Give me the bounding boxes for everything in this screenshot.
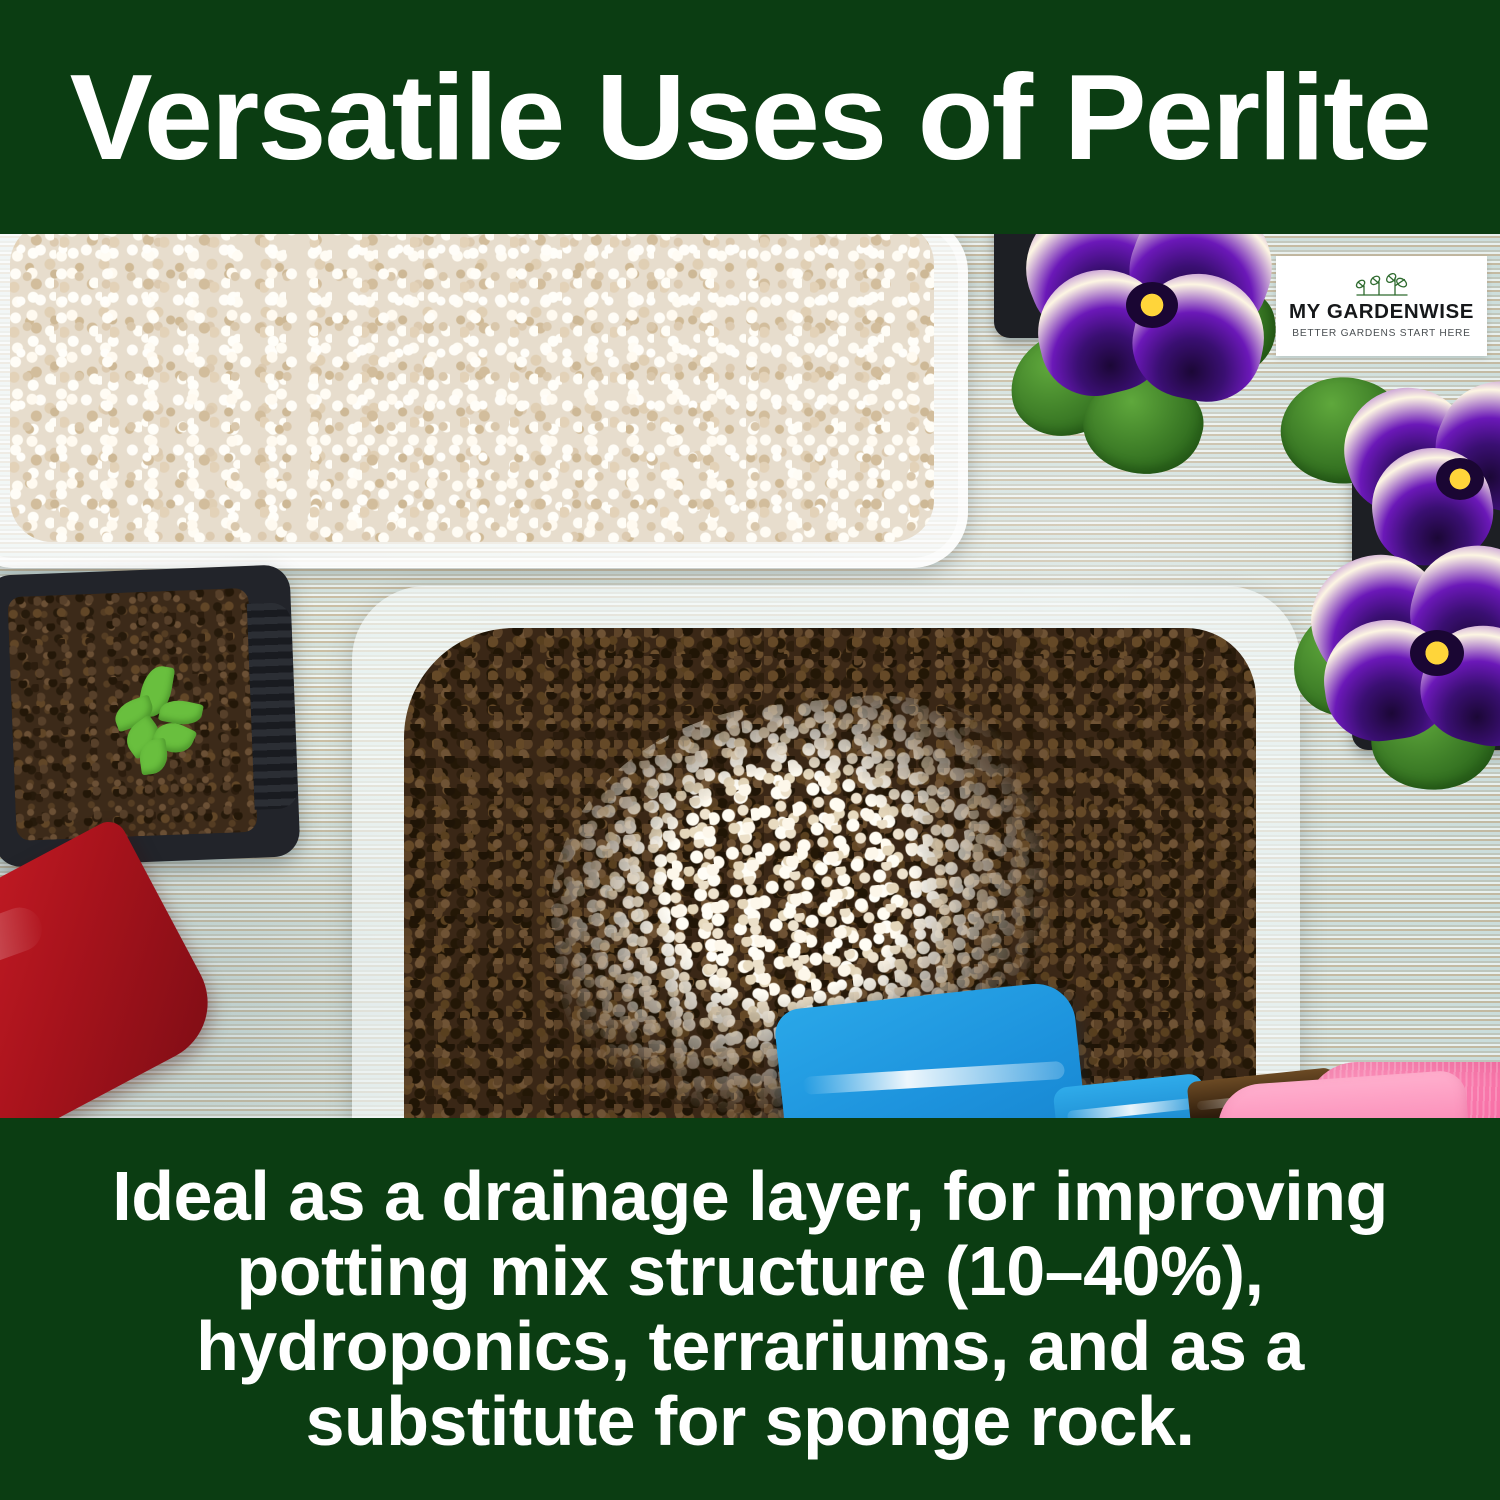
perlite-granules [10, 234, 934, 542]
pansy-flower [1310, 546, 1500, 746]
seedling-pot [0, 564, 300, 867]
pansy-flower [1344, 382, 1500, 572]
caption-line-2: potting mix structure (10–40%), [112, 1234, 1387, 1309]
perlite-tray [0, 234, 968, 568]
seedling-sprouts-icon [1351, 273, 1413, 299]
page-title: Versatile Uses of Perlite [56, 56, 1445, 178]
caption-line-4: substitute for sponge rock. [112, 1384, 1387, 1459]
caption-band: Ideal as a drainage layer, for improving… [0, 1118, 1500, 1500]
perlite-infographic: Versatile Uses of Perlite [0, 0, 1500, 1500]
caption-text: Ideal as a drainage layer, for improving… [52, 1159, 1447, 1459]
seedling-plant-icon [106, 663, 231, 788]
caption-line-1: Ideal as a drainage layer, for improving [112, 1159, 1387, 1234]
pansy-flower [1022, 234, 1284, 416]
logo-tagline: BETTER GARDENS START HERE [1292, 329, 1470, 339]
red-trowel-highlight [0, 901, 48, 994]
red-trowel [0, 816, 229, 1118]
logo-name: MY GARDENWISE [1289, 302, 1474, 323]
photo-panel: MY GARDENWISE BETTER GARDENS START HERE [0, 234, 1500, 1118]
brand-logo[interactable]: MY GARDENWISE BETTER GARDENS START HERE [1276, 256, 1487, 356]
pink-glove [1218, 1062, 1500, 1118]
pot-ridge [247, 602, 299, 810]
caption-line-3: hydroponics, terrariums, and as a [112, 1309, 1387, 1384]
trowel-blade [773, 980, 1099, 1118]
header-band: Versatile Uses of Perlite [0, 0, 1500, 234]
